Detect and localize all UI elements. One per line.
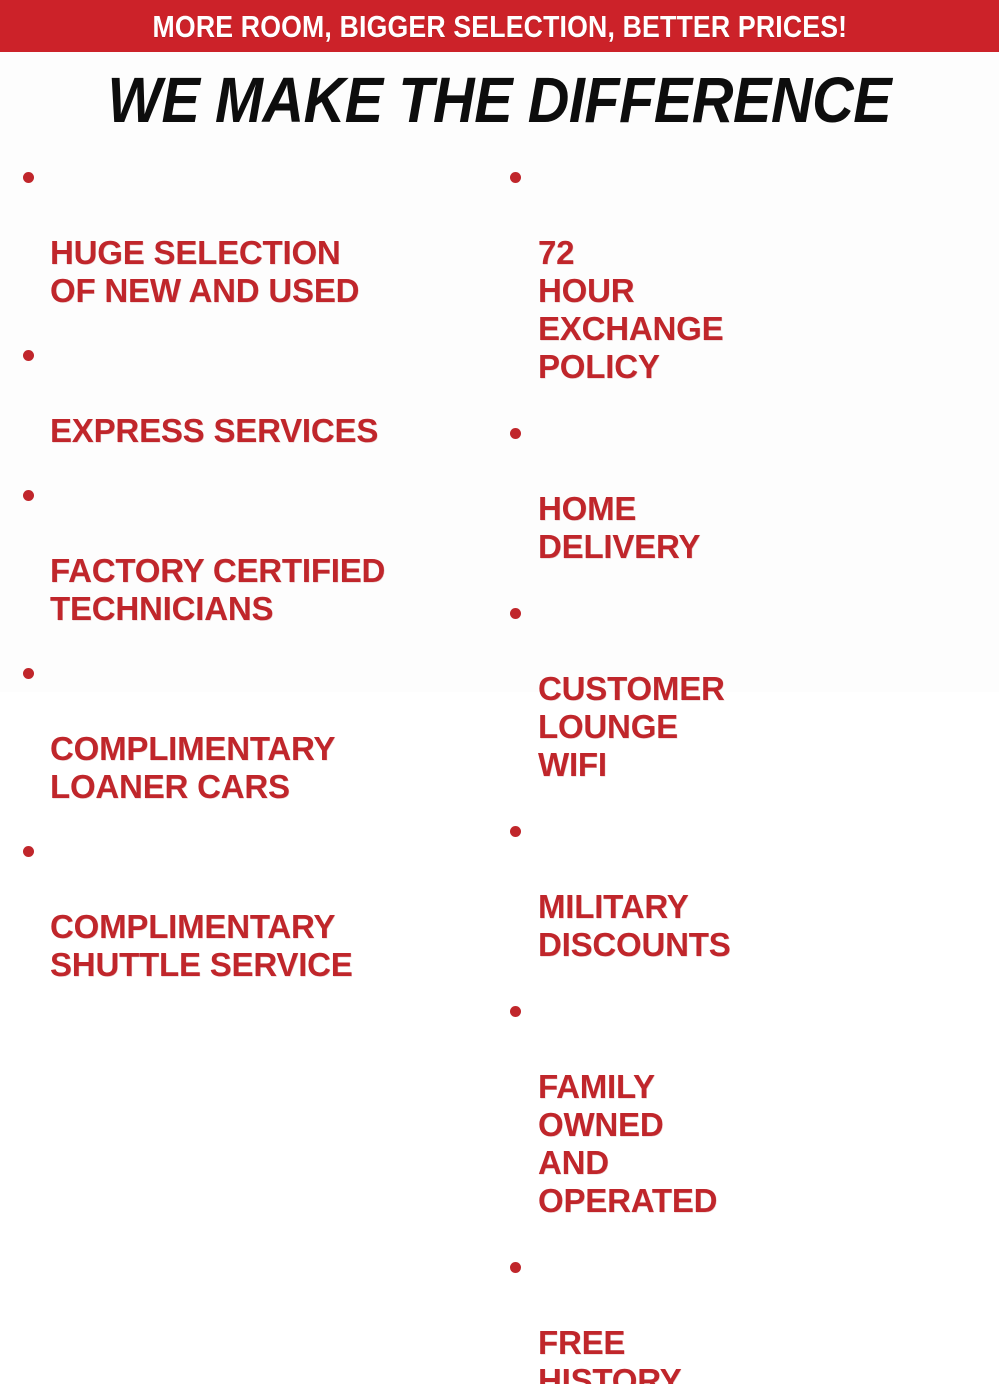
list-item: FREE HISTORY REPORTS xyxy=(500,1248,538,1384)
list-item-label: 72 HOUR EXCHANGE POLICY xyxy=(538,234,723,385)
bullet-dot-icon xyxy=(23,172,34,183)
list-item-label: FREE HISTORY REPORTS xyxy=(538,1324,696,1384)
promo-banner: MORE ROOM, BIGGER SELECTION, BETTER PRIC… xyxy=(0,0,999,52)
bullet-dot-icon xyxy=(510,428,521,439)
list-item-label: CUSTOMER LOUNGE WIFI xyxy=(538,670,725,783)
list-item-label: MILITARY DISCOUNTS xyxy=(538,888,731,963)
feature-columns: HUGE SELECTION OF NEW AND USED EXPRESS S… xyxy=(0,158,999,692)
list-item: 72 HOUR EXCHANGE POLICY xyxy=(500,158,538,386)
promo-banner-text: MORE ROOM, BIGGER SELECTION, BETTER PRIC… xyxy=(152,11,847,42)
list-item: HUGE SELECTION OF NEW AND USED xyxy=(14,158,500,310)
list-item: COMPLIMENTARY SHUTTLE SERVICE xyxy=(14,832,500,984)
headline: WE MAKE THE DIFFERENCE xyxy=(0,68,999,132)
list-item-label: EXPRESS SERVICES xyxy=(50,412,378,449)
list-item-label: COMPLIMENTARY LOANER CARS xyxy=(50,730,335,805)
bullet-dot-icon xyxy=(510,1262,521,1273)
list-item: EXPRESS SERVICES xyxy=(14,336,500,450)
headline-text: WE MAKE THE DIFFERENCE xyxy=(108,68,892,132)
bullet-dot-icon xyxy=(510,608,521,619)
bullet-dot-icon xyxy=(510,826,521,837)
list-item: CUSTOMER LOUNGE WIFI xyxy=(500,594,538,784)
list-item: COMPLIMENTARY LOANER CARS xyxy=(14,654,500,806)
list-item-label: HOME DELIVERY xyxy=(538,490,700,565)
list-item: FACTORY CERTIFIED TECHNICIANS xyxy=(14,476,500,628)
list-item: HOME DELIVERY xyxy=(500,414,538,566)
feature-list-left: HUGE SELECTION OF NEW AND USED EXPRESS S… xyxy=(14,158,500,984)
feature-column-left: HUGE SELECTION OF NEW AND USED EXPRESS S… xyxy=(0,158,500,1010)
bullet-dot-icon xyxy=(23,350,34,361)
bullet-dot-icon xyxy=(23,490,34,501)
list-item-label: HUGE SELECTION OF NEW AND USED xyxy=(50,234,359,309)
bullet-dot-icon xyxy=(23,846,34,857)
bullet-dot-icon xyxy=(510,1006,521,1017)
list-item-label: FACTORY CERTIFIED TECHNICIANS xyxy=(50,552,385,627)
list-item: FAMILY OWNED AND OPERATED xyxy=(500,992,538,1220)
list-item-label: COMPLIMENTARY SHUTTLE SERVICE xyxy=(50,908,353,983)
list-item-label: FAMILY OWNED AND OPERATED xyxy=(538,1068,717,1219)
bullet-dot-icon xyxy=(510,172,521,183)
list-item: MILITARY DISCOUNTS xyxy=(500,812,538,964)
bullet-dot-icon xyxy=(23,668,34,679)
advertisement-graphic: MORE ROOM, BIGGER SELECTION, BETTER PRIC… xyxy=(0,0,999,692)
